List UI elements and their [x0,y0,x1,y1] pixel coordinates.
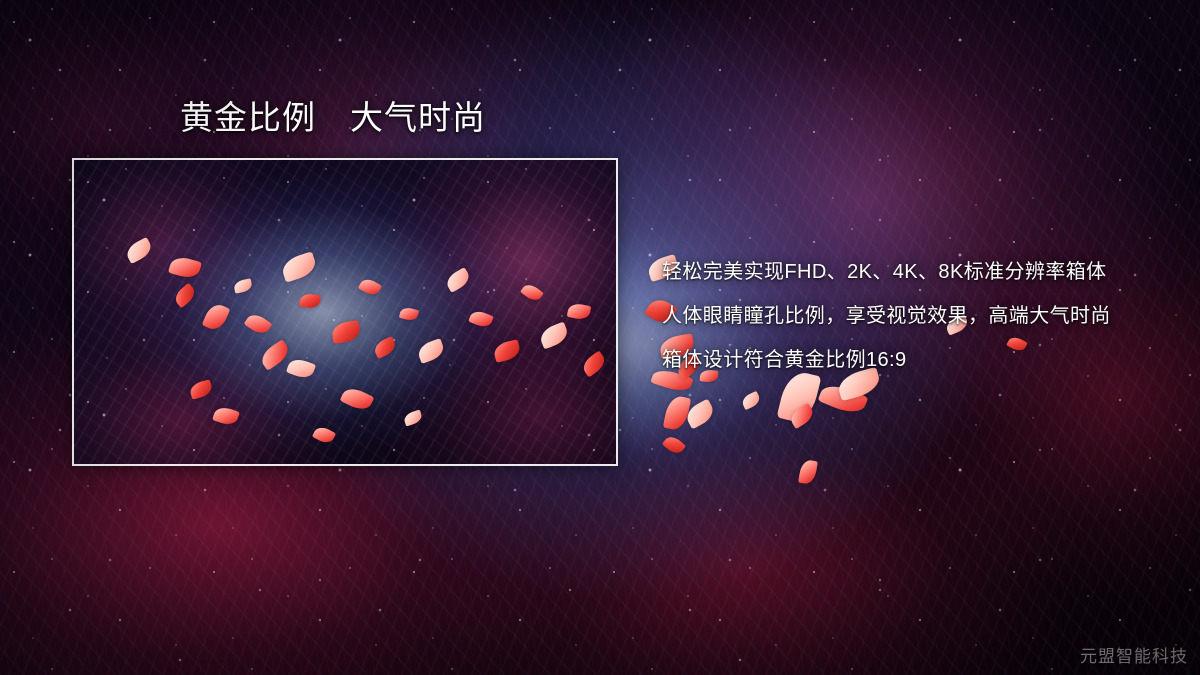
presentation-slide: 黄金比例 大气时尚 轻松完美实现FHD、2K、4K、8K标准分辨率箱体 人体眼睛… [0,0,1200,675]
preview-image-frame [72,158,618,466]
company-watermark: 元盟智能科技 [1080,642,1188,667]
page-title: 黄金比例 大气时尚 [180,101,486,134]
description-line-1: 轻松完美实现FHD、2K、4K、8K标准分辨率箱体 [662,250,1142,294]
feature-description-block: 轻松完美实现FHD、2K、4K、8K标准分辨率箱体 人体眼睛瞳孔比例，享受视觉效… [662,250,1142,382]
preview-starfield-medium [74,160,616,464]
description-line-3: 箱体设计符合黄金比例16:9 [662,338,1142,382]
description-line-2: 人体眼睛瞳孔比例，享受视觉效果，高端大气时尚 [662,294,1142,338]
